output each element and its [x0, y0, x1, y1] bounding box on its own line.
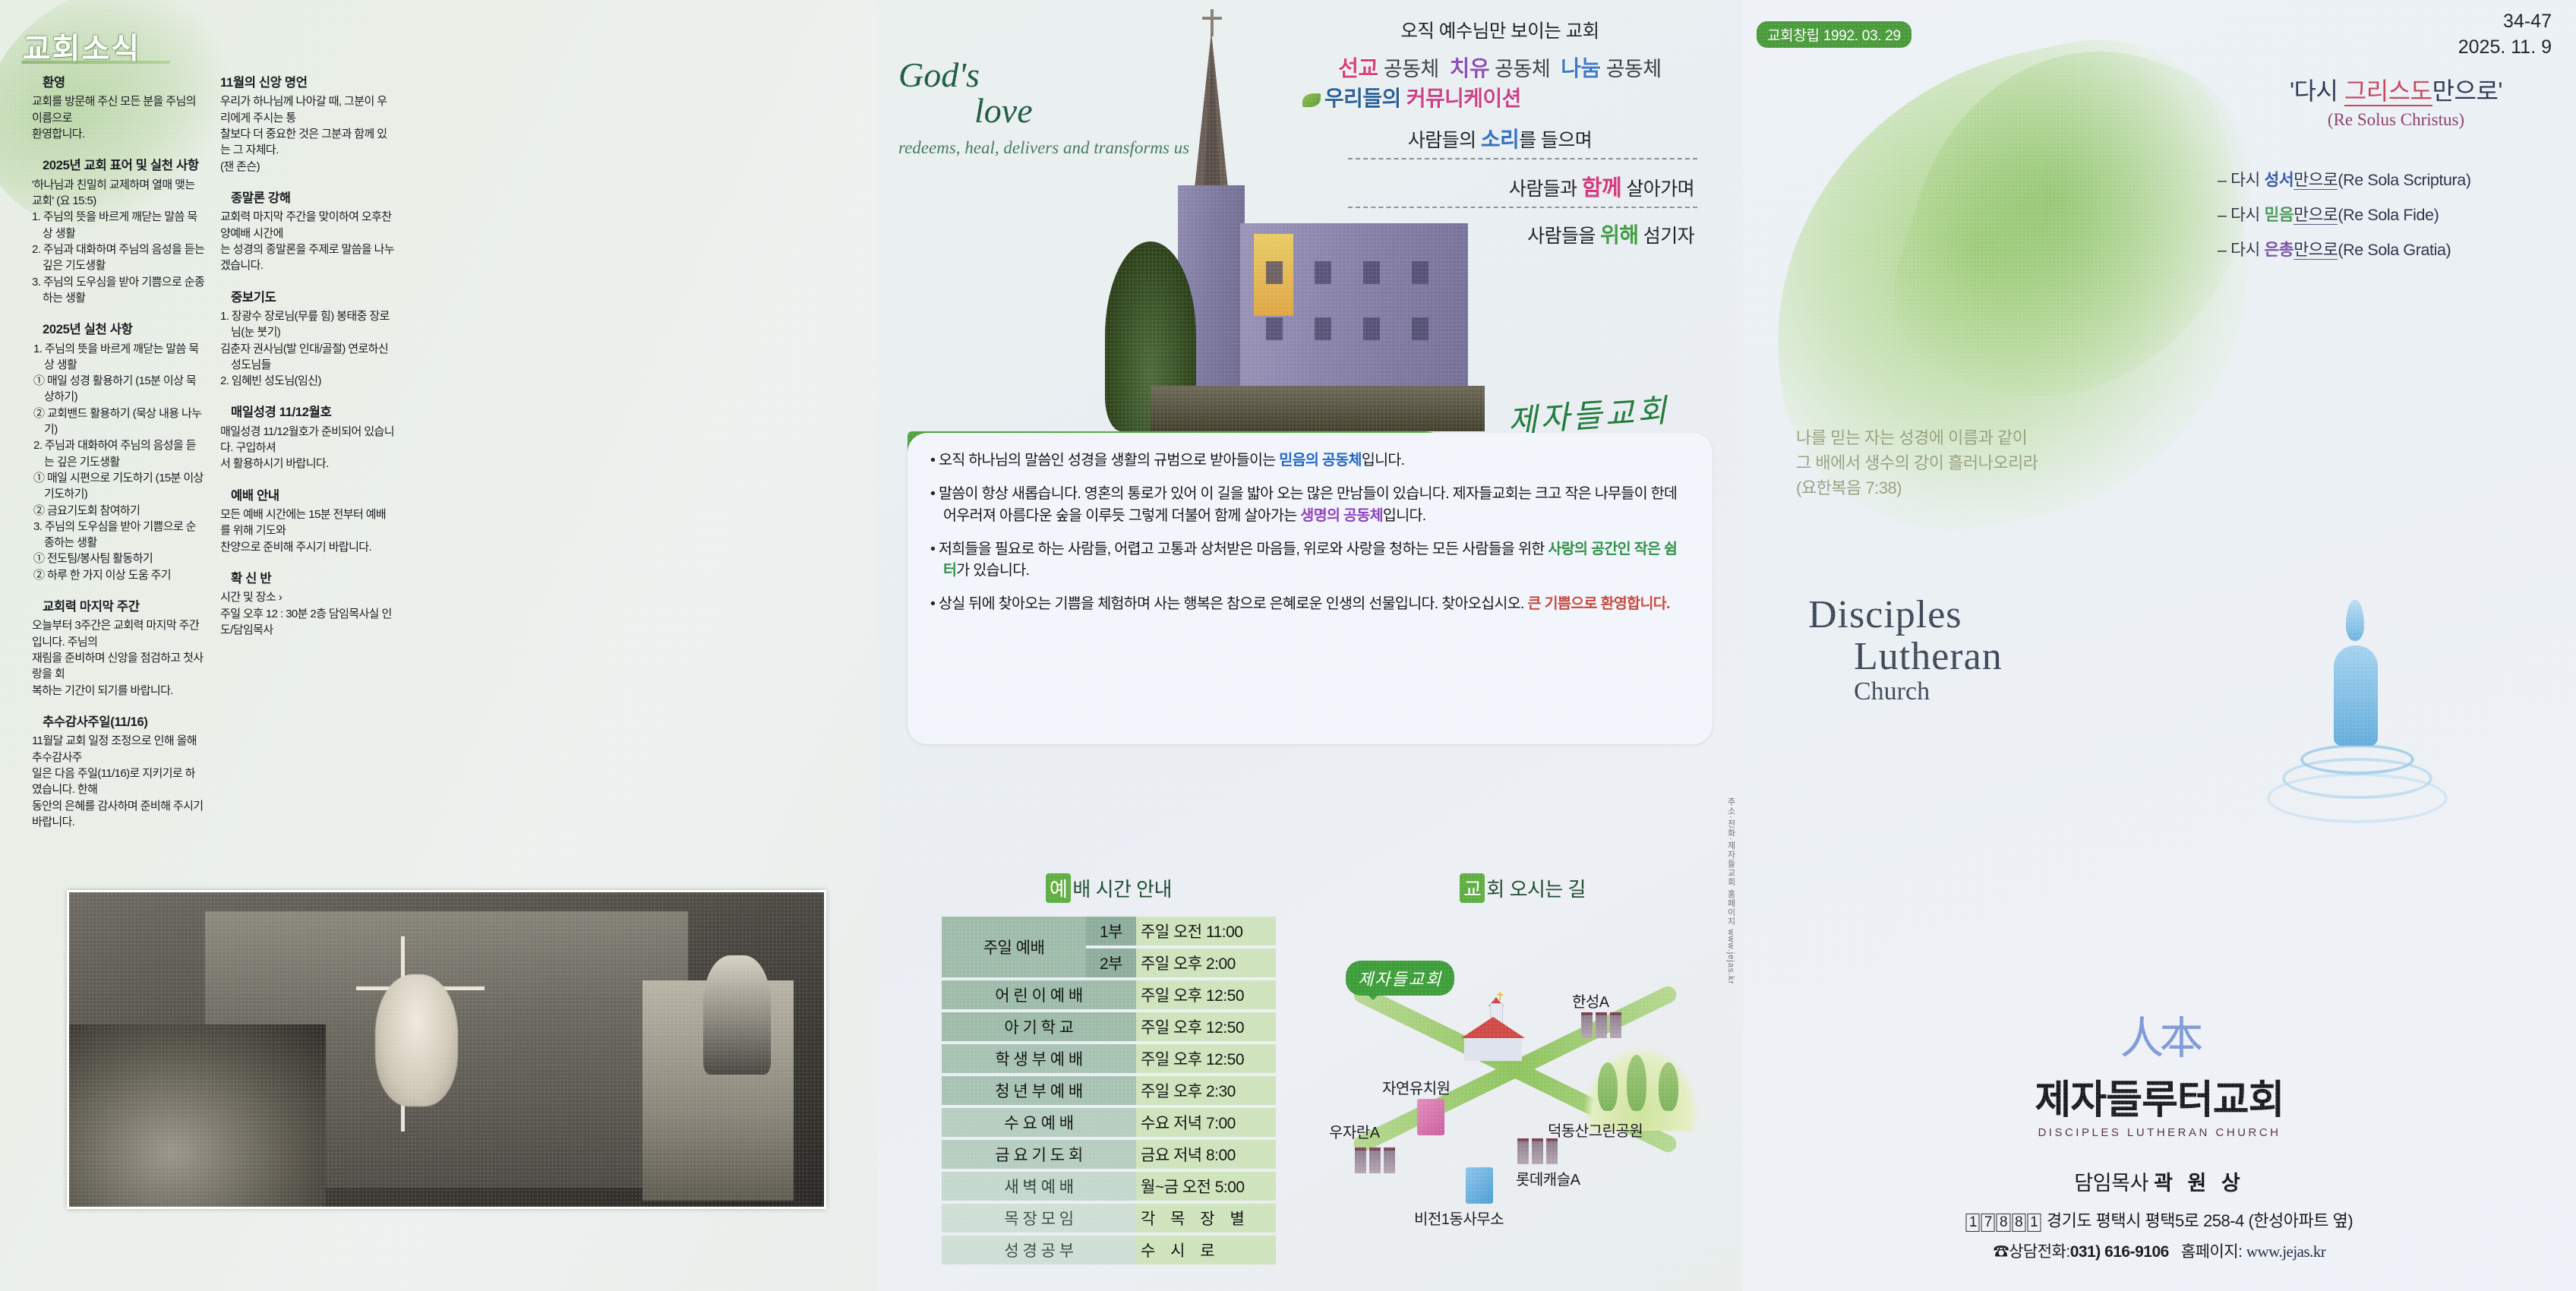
window [1266, 317, 1283, 340]
block-line: 11월달 교회 일정 조정으로 인해 올해 추수감사주 [32, 733, 205, 765]
block-list: 1. 장광수 장로님(무릎 힘) 봉태중 장로님(눈 붓기) 김춘자 권사님(발… [220, 308, 395, 389]
motto-post: 만으로' [2432, 77, 2502, 105]
bullet-post: 입니다. [1383, 507, 1426, 524]
community-3-suffix: 공동체 [1606, 58, 1662, 80]
list-item: 1. 주님의 뜻을 바르게 깨닫는 말씀 묵상 생활 [32, 341, 205, 374]
block-line: 오늘부터 3주간은 교회력 마지막 주간입니다. 주님의 [32, 617, 205, 650]
bullet-post: 입니다. [1362, 452, 1405, 469]
communication-line-3: 사람들을 위해 섬기자 [1302, 219, 1697, 249]
sola-pre: – 다시 [2218, 171, 2264, 189]
sola-pre: – 다시 [2218, 241, 2264, 259]
news-block-motto-2025: 2025년 교회 표어 및 실천 사항 '하나님과 친밀히 교제하며 열매 맺는… [32, 157, 205, 306]
map-church-callout: 제자들교회 [1346, 961, 1454, 996]
list-item: ① 전도팀/봉사팀 활동하기 [32, 551, 205, 567]
service-label: 새 벽 예 배 [942, 1172, 1136, 1201]
motto-pre: '다시 [2290, 77, 2344, 105]
line1-post: 를 들으며 [1519, 130, 1592, 151]
service-label: 아 기 학 교 [942, 1012, 1136, 1041]
service-time: 주일 오후 2:00 [1136, 949, 1276, 977]
map-label-wujaran: 우자란A [1329, 1120, 1380, 1142]
postal-code: 17881 [1966, 1211, 2042, 1230]
news-block-last-week: 교회력 마지막 주간 오늘부터 3주간은 교회력 마지막 주간입니다. 주님의 … [32, 598, 205, 699]
community-3: 나눔 공동체 [1561, 51, 1661, 83]
window [1315, 317, 1331, 340]
community-3-word: 나눔 [1561, 57, 1600, 81]
block-heading: 추수감사주일(11/16) [43, 714, 205, 731]
divider-dashed [1348, 158, 1697, 159]
motto-highlight: 그리스도 [2344, 77, 2432, 106]
news-block-welcome: 환영 교회를 방문해 주신 모든 분을 주님의 이름으로 환영합니다. [32, 74, 205, 142]
wordmark-line-3: Church [1854, 677, 2003, 706]
bullet-pre: 저희들을 필요로 하는 사람들, 어렵고 고통과 상처받은 마음들, 위로와 사… [939, 541, 1548, 557]
wordmark-line-2: Lutheran [1854, 634, 2003, 679]
issue-date: 2025. 11. 9 [2458, 35, 2552, 61]
map-label-hanseong: 한성A [1572, 990, 1609, 1012]
service-label: 목 장 모 임 [942, 1204, 1136, 1233]
block-line: 매일성경 11/12월호가 준비되어 있습니다. 구입하셔 [220, 424, 395, 456]
list-item: ② 하루 한 가지 이상 도움 주기 [32, 567, 205, 583]
service-part: 2부 [1086, 949, 1136, 977]
list-item: ① 매일 성경 활용하기 (15분 이상 묵상하기) [32, 373, 205, 406]
window [1363, 317, 1380, 340]
photo-crowd [69, 1024, 326, 1207]
bullet-post: 가 있습니다. [956, 562, 1029, 579]
block-line: 모든 예배 시간에는 15분 전부터 예배를 위해 기도와 [220, 507, 395, 539]
droplet-icon [2346, 600, 2364, 641]
sola-post: 만으로 [2293, 241, 2338, 260]
church-identity-box: 오직 하나님의 말씀인 성경을 생활의 규범으로 받아들이는 믿음의 공동체입니… [908, 433, 1713, 744]
crucifixion-photo [67, 890, 826, 1209]
news-block-eschatology: 종말론 강해 교회력 마지막 주간을 맞이하여 오후찬양예배 시간에 는 성경의… [220, 190, 395, 274]
sola-item-scriptura: – 다시 성서만으로(Re Sola Scriptura) [2218, 167, 2559, 191]
news-block-daily-bible: 매일성경 11/12월호 매일성경 11/12월호가 준비되어 있습니다. 구입… [220, 404, 395, 472]
sola-highlight: 은총 [2264, 241, 2293, 259]
news-column-1: 환영 교회를 방문해 주신 모든 분을 주님의 이름으로 환영합니다. 2025… [32, 74, 205, 845]
zip-digit: 7 [1981, 1214, 1995, 1232]
block-line: 는 성경의 종말론을 주제로 말씀을 나누겠습니다. [220, 241, 395, 274]
service-label: 청 년 부 예 배 [942, 1076, 1136, 1105]
service-part: 1부 [1086, 917, 1136, 945]
block-heading: 종말론 강해 [231, 190, 395, 207]
sola-latin: (Re Sola Gratia) [2338, 241, 2451, 259]
list-item: 2. 주님과 대화하며 주님의 음성을 듣는 깊은 기도생활 [32, 241, 205, 274]
communication-heading: 우리들의 커뮤니케이션 [1302, 82, 1697, 112]
list-item: 상실 뒤에 찾아오는 기쁨을 체험하며 사는 행복은 참으로 은혜로운 인생의 … [930, 593, 1690, 615]
map-label-kindergarten: 자연유치원 [1382, 1076, 1451, 1098]
water-drop-graphic [2267, 600, 2449, 828]
church-slogan: 오직 예수님만 보이는 교회 선교 공동체 치유 공동체 나눔 공동체 [1302, 17, 1697, 83]
block-heading: 중보기도 [231, 289, 395, 307]
pastor-label: 담임목사 [2074, 1172, 2148, 1195]
list-item: 오직 하나님의 말씀인 성경을 생활의 규범으로 받아들이는 믿음의 공동체입니… [930, 450, 1690, 472]
bulletin-page: 교회소식 환영 교회를 방문해 주신 모든 분을 주님의 이름으로 환영합니다.… [0, 0, 2576, 1291]
communication-heading-a: 우리들의 [1324, 87, 1406, 110]
title-underline [21, 61, 170, 64]
block-heading: 예배 안내 [231, 488, 395, 505]
logo-english-name: DISCIPLES LUTHERAN CHURCH [1743, 1126, 2576, 1139]
service-label: 어 린 이 예 배 [942, 980, 1136, 1009]
church-map-icon: ✝ [1457, 1002, 1529, 1061]
table-row: 학 생 부 예 배주일 오후 12:50 [942, 1044, 1276, 1073]
issue-info: 34-47 2025. 11. 9 [2458, 9, 2552, 61]
sola-item-fide: – 다시 믿음만으로(Re Sola Fide) [2218, 202, 2559, 226]
service-time: 금요 저녁 8:00 [1136, 1140, 1276, 1169]
block-line: 교회를 방문해 주신 모든 분을 주님의 이름으로 [32, 93, 205, 126]
line3-pre: 사람들을 [1527, 226, 1600, 247]
list-item: 1. 장광수 장로님(무릎 힘) 봉태중 장로님(눈 붓기) [220, 308, 395, 341]
logo-mark-icon: 人本 [1743, 1002, 2576, 1066]
service-label: 주일 예배 [942, 917, 1086, 977]
contact-block: 17881 경기도 평택시 평택5로 258-4 (한성아파트 옆) ☎상담전화… [1743, 1207, 2576, 1262]
directions-section: 교회 오시는 길 제자들교회 ✝ [1333, 873, 1713, 1236]
panel-center: God's love redeems, heal, delivers and t… [877, 0, 1743, 1291]
english-wordmark: Disciples Lutheran Church [1808, 592, 2003, 706]
block-quote: '하나님과 친밀히 교제하며 열매 맺는 교회' (요 15:5) [32, 177, 205, 210]
block-line: 교회력 마지막 주간을 맞이하여 오후찬양예배 시간에 [220, 209, 395, 241]
vertical-side-note: 주소·전화·제자들교회 홈페이지 www.jejas.kr [1719, 797, 1737, 985]
service-time: 주일 오전 11:00 [1136, 917, 1276, 945]
list-item: 3. 주님의 도우심을 받아 기쁨으로 순종하는 생활 [32, 519, 205, 551]
service-time: 주일 오후 12:50 [1136, 980, 1276, 1009]
street-address: 경기도 평택시 평택5로 258-4 (한성아파트 옆) [2047, 1211, 2353, 1230]
window [1412, 317, 1428, 340]
address-line: 17881 경기도 평택시 평택5로 258-4 (한성아파트 옆) [1743, 1207, 2576, 1232]
worship-schedule-title: 예배 시간 안내 [923, 873, 1295, 903]
location-map[interactable]: 제자들교회 ✝ [1344, 917, 1701, 1236]
block-list: 1. 주님의 뜻을 바르게 깨닫는 말씀 묵상 생활 ① 매일 성경 활용하기 … [32, 341, 205, 583]
christ-figure [375, 974, 458, 1106]
community-2-suffix: 공동체 [1495, 58, 1550, 80]
block-line: 찰보다 더 중요한 것은 그분과 함께 있는 그 자체다. [220, 126, 395, 159]
worship-schedule-table: 주일 예배 1부 주일 오전 11:00 2부 주일 오후 2:00 어 린 이… [942, 914, 1276, 1267]
zip-digit: 1 [1966, 1214, 1980, 1232]
list-item: 저희들을 필요로 하는 사람들, 어렵고 고통과 상처받은 마음들, 위로와 사… [930, 538, 1690, 582]
sola-latin: (Re Sola Scriptura) [2338, 171, 2470, 189]
photo-preacher [703, 955, 771, 1075]
list-item: 김춘자 권사님(발 인대/골절) 연로하신 성도님들 [220, 341, 395, 374]
block-heading: 매일성경 11/12월호 [231, 404, 395, 421]
line1-highlight: 소리 [1481, 128, 1519, 151]
block-heading: 2025년 교회 표어 및 실천 사항 [43, 157, 205, 175]
communication-heading-b: 커뮤니케이션 [1406, 87, 1521, 110]
news-block-practice-2025: 2025년 실천 사항 1. 주님의 뜻을 바르게 깨닫는 말씀 묵상 생활 ①… [32, 321, 205, 583]
service-label: 금 요 기 도 회 [942, 1140, 1136, 1169]
bullet-pre: 상실 뒤에 찾아오는 기쁨을 체험하며 사는 행복은 참으로 은혜로운 인생의 … [939, 595, 1528, 612]
news-block-intercession: 중보기도 1. 장광수 장로님(무릎 힘) 봉태중 장로님(눈 붓기) 김춘자 … [220, 289, 395, 390]
community-1: 선교 공동체 [1338, 51, 1438, 83]
bible-verse: 나를 믿는 자는 성경에 이름과 같이 그 배에서 생수의 강이 흘러나오리라 … [1796, 425, 2038, 500]
block-line: 재림을 준비하며 신앙을 점검하고 첫사랑을 회 [32, 650, 205, 683]
table-row: 어 린 이 예 배주일 오후 12:50 [942, 980, 1276, 1009]
table-row: 금 요 기 도 회금요 저녁 8:00 [942, 1140, 1276, 1169]
divider-dashed [1348, 207, 1697, 208]
ripple-3 [2267, 773, 2448, 823]
motto-korean: '다시 그리스도만으로' [2233, 72, 2559, 107]
block-line: 일은 다음 주일(11/16)로 지키기로 하였습니다. 한해 [32, 765, 205, 798]
table-row: 아 기 학 교주일 오후 12:50 [942, 1012, 1276, 1041]
community-2: 치유 공동체 [1450, 51, 1550, 83]
block-heading: 교회력 마지막 주간 [43, 598, 205, 616]
block-heading: 확 신 반 [231, 570, 395, 588]
window [1315, 261, 1331, 284]
news-block-quote-november: 11월의 신앙 명언 우리가 하나님께 나아갈 때, 그분이 우리에게 주시는 … [220, 74, 395, 175]
block-line: 동안의 은혜를 감사하며 준비해 주시기 바랍니다. [32, 798, 205, 831]
block-heading: 2025년 실천 사항 [43, 321, 205, 339]
list-item: 3. 주님의 도우심을 받아 기쁨으로 순종하는 생활 [32, 274, 205, 307]
church-logo: 人本 제자들루터교회 DISCIPLES LUTHERAN CHURCH 담임목… [1743, 1002, 2576, 1196]
verse-reference: (요한복음 7:38) [1796, 475, 2038, 500]
bullet-pre: 오직 하나님의 말씀인 성경을 생활의 규범으로 받아들이는 [939, 452, 1279, 469]
church-wall [1464, 1038, 1522, 1061]
block-line: 서 활용하시기 바랍니다. [220, 456, 395, 472]
block-list: 1. 주님의 뜻을 바르게 깨닫는 말씀 묵상 생활 2. 주님과 대화하며 주… [32, 209, 205, 306]
list-item: 말씀이 항상 새롭습니다. 영혼의 통로가 있어 이 길을 밟아 오는 많은 만… [930, 483, 1690, 527]
sola-pre: – 다시 [2218, 206, 2264, 224]
title-rest: 회 오시는 길 [1486, 878, 1586, 901]
phone-and-site-line: ☎상담전화:031) 616-9106 홈페이지: www.jejas.kr [1743, 1239, 2576, 1262]
founded-badge: 교회창립 1992. 03. 29 [1757, 21, 1911, 48]
phone-number[interactable]: 031) 616-9106 [2070, 1243, 2169, 1261]
map-label-office: 비전1동사무소 [1414, 1207, 1504, 1229]
service-time: 수요 저녁 7:00 [1136, 1108, 1276, 1137]
news-block-worship-notice: 예배 안내 모든 예배 시간에는 15분 전부터 예배를 위해 기도와 찬양으로… [220, 488, 395, 555]
block-heading: 환영 [43, 74, 205, 92]
community-1-word: 선교 [1338, 57, 1378, 81]
news-block-thanksgiving: 추수감사주일(11/16) 11월달 교회 일정 조정으로 인해 올해 추수감사… [32, 714, 205, 830]
news-block-confirmation-class: 확 신 반 시간 및 장소 › 주일 오후 12 : 30분 2층 담임목사실 … [220, 570, 395, 638]
bullet-highlight: 믿음의 공동체 [1279, 452, 1362, 469]
service-label: 성 경 공 부 [942, 1236, 1136, 1264]
community-2-word: 치유 [1450, 57, 1489, 81]
line3-highlight: 위해 [1600, 223, 1638, 247]
service-label: 수 요 예 배 [942, 1108, 1136, 1137]
directions-title: 교회 오시는 길 [1333, 873, 1713, 903]
issue-number: 34-47 [2458, 9, 2552, 35]
annual-motto: '다시 그리스도만으로' (Re Solus Christus) [2233, 72, 2559, 130]
service-time: 월~금 오전 5:00 [1136, 1172, 1276, 1201]
steeple-spire-shade [1204, 52, 1220, 188]
service-time: 각 목 장 별 [1136, 1204, 1276, 1233]
block-line: 우리가 하나님께 나아갈 때, 그분이 우리에게 주시는 통 [220, 93, 395, 126]
communication-line-2: 사람들과 함께 살아가며 [1302, 170, 1697, 202]
list-item: 2. 임혜빈 성도님(임신) [220, 373, 395, 389]
list-item: ① 매일 시편으로 기도하기 (15분 이상 기도하기) [32, 470, 205, 503]
block-heading: 11월의 신앙 명언 [220, 74, 395, 92]
table-row: 수 요 예 배수요 저녁 7:00 [942, 1108, 1276, 1137]
title-badge: 교 [1460, 873, 1485, 903]
district-office-icon [1466, 1167, 1493, 1204]
slogan-top-line: 오직 예수님만 보이는 교회 [1302, 17, 1697, 43]
bullet-highlight: 생명의 공동체 [1300, 507, 1383, 524]
website-label: 홈페이지: [2181, 1243, 2243, 1261]
slogan-communities: 선교 공동체 치유 공동체 나눔 공동체 [1302, 51, 1697, 83]
apartment-icon-hanseong [1581, 1008, 1622, 1038]
apartment-icon-wujaran [1355, 1143, 1396, 1173]
map-label-lotte: 롯데캐슬A [1516, 1167, 1580, 1189]
bullet-highlight: 큰 기쁨으로 환영합니다. [1528, 595, 1670, 612]
list-item: 2. 주님과 대화하여 주님의 음성을 듣는 깊은 기도생활 [32, 437, 205, 470]
map-label-park: 덕동산그린공원 [1548, 1119, 1643, 1141]
verse-line: 나를 믿는 자는 성경에 이름과 같이 [1796, 425, 2038, 450]
ground-strip [1151, 386, 1485, 431]
news-column-2: 11월의 신앙 명언 우리가 하나님께 나아갈 때, 그분이 우리에게 주시는 … [220, 74, 395, 653]
block-line: 주일 오후 12 : 30분 2층 담임목사실 인도/담임목사 [220, 606, 395, 639]
table-row: 주일 예배 1부 주일 오전 11:00 [942, 917, 1276, 945]
window [1266, 261, 1283, 284]
table-row: 성 경 공 부수 시 로 [942, 1236, 1276, 1264]
church-roof [1461, 1017, 1525, 1038]
communication-line-1: 사람들의 소리를 들으며 [1302, 123, 1697, 153]
worship-schedule-section: 예배 시간 안내 주일 예배 1부 주일 오전 11:00 2부 주일 오후 2… [923, 873, 1295, 1267]
line3-post: 섬기자 [1638, 226, 1694, 247]
title-badge: 예 [1046, 873, 1071, 903]
zip-digit: 8 [2012, 1214, 2025, 1232]
table-row: 목 장 모 임각 목 장 별 [942, 1204, 1276, 1233]
zip-digit: 1 [2027, 1214, 2041, 1232]
line2-post: 살아가며 [1621, 178, 1694, 200]
line2-pre: 사람들과 [1509, 178, 1582, 200]
panel-church-news: 교회소식 환영 교회를 방문해 주신 모든 분을 주님의 이름으로 환영합니다.… [0, 0, 877, 1291]
verse-line: 그 배에서 생수의 강이 흘러나오리라 [1796, 450, 2038, 475]
service-time: 주일 오후 12:50 [1136, 1012, 1276, 1041]
sola-post: 만으로 [2293, 206, 2338, 225]
sola-item-gratia: – 다시 은총만으로(Re Sola Gratia) [2218, 237, 2559, 260]
block-line: 시간 및 장소 › [220, 589, 395, 605]
sola-post: 만으로 [2293, 171, 2338, 190]
service-label: 학 생 부 예 배 [942, 1044, 1136, 1073]
website-url[interactable]: www.jejas.kr [2246, 1242, 2326, 1261]
wordmark-line-1: Disciples [1808, 592, 2003, 637]
phone-label: ☎상담전화: [1994, 1243, 2070, 1261]
block-line: 환영합니다. [32, 126, 205, 142]
line2-highlight: 함께 [1582, 176, 1621, 200]
pastor-line: 담임목사 곽 원 상 [1743, 1166, 2576, 1196]
block-line: (잰 존슨) [220, 159, 395, 175]
block-line: 찬양으로 준비해 주시기 바랍니다. [220, 539, 395, 555]
table-row: 새 벽 예 배월~금 오전 5:00 [942, 1172, 1276, 1201]
window [1363, 261, 1380, 284]
identity-bullet-list: 오직 하나님의 말씀인 성경을 생활의 규범으로 받아들이는 믿음의 공동체입니… [908, 433, 1713, 615]
list-item: 1. 주님의 뜻을 바르게 깨닫는 말씀 묵상 생활 [32, 209, 205, 241]
list-item: ② 교회밴드 활용하기 (묵상 내용 나누기) [32, 406, 205, 438]
water-column [2334, 645, 2378, 746]
kindergarten-icon [1417, 1099, 1444, 1135]
steeple-cross-beam-icon [1202, 17, 1222, 20]
title-rest: 배 시간 안내 [1072, 878, 1172, 901]
zip-digit: 8 [1997, 1214, 2010, 1232]
sola-highlight: 성서 [2264, 171, 2293, 189]
leaf-icon [1302, 93, 1321, 107]
solas-list: – 다시 성서만으로(Re Sola Scriptura) – 다시 믿음만으로… [2218, 167, 2559, 272]
list-item: ② 금요기도회 참여하기 [32, 503, 205, 519]
block-line: 복하는 기간이 되기를 바랍니다. [32, 683, 205, 699]
line1-pre: 사람들의 [1408, 130, 1481, 151]
pastor-name: 곽 원 상 [2154, 1172, 2245, 1195]
panel-right-cover: 교회창립 1992. 03. 29 34-47 2025. 11. 9 '다시 … [1743, 0, 2576, 1291]
service-time: 수 시 로 [1136, 1236, 1276, 1264]
window [1412, 261, 1428, 284]
motto-latin: (Re Solus Christus) [2233, 110, 2559, 130]
sola-highlight: 믿음 [2264, 206, 2293, 224]
logo-korean-name: 제자들루터교회 [1743, 1068, 2576, 1125]
sola-latin: (Re Sola Fide) [2338, 206, 2439, 224]
communication-block: 우리들의 커뮤니케이션 사람들의 소리를 들으며 사람들과 함께 살아가며 사람… [1302, 82, 1697, 249]
service-time: 주일 오후 12:50 [1136, 1044, 1276, 1073]
service-time: 주일 오후 2:30 [1136, 1076, 1276, 1105]
community-1-suffix: 공동체 [1384, 58, 1439, 80]
table-row: 청 년 부 예 배주일 오후 2:30 [942, 1076, 1276, 1105]
